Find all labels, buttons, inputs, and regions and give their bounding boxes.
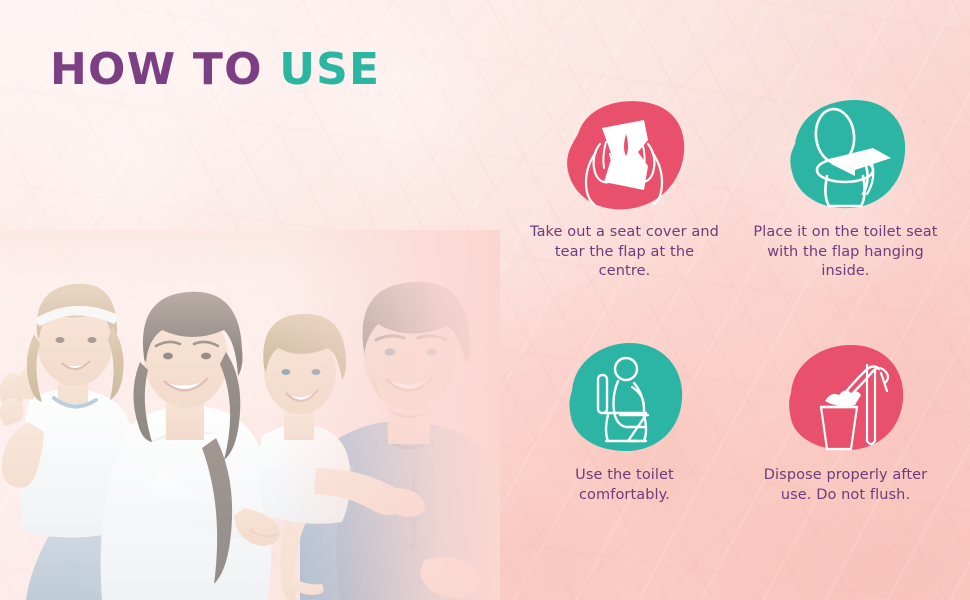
page-title: HOW TO USE bbox=[50, 48, 380, 92]
step-2-icon-blob bbox=[781, 96, 911, 214]
step-3-icon-blob bbox=[560, 339, 690, 457]
page-title-part1: HOW TO bbox=[50, 44, 263, 95]
family-photo-artwork bbox=[0, 230, 500, 600]
photo-mother bbox=[101, 292, 280, 600]
steps-grid: Take out a seat cover and tear the flap … bbox=[520, 96, 950, 556]
step-4-icon-blob bbox=[781, 339, 911, 457]
step-2-text: Place it on the toilet seat with the fla… bbox=[751, 223, 941, 282]
step-1-text: Take out a seat cover and tear the flap … bbox=[530, 223, 720, 282]
step-1: Take out a seat cover and tear the flap … bbox=[520, 96, 729, 313]
step-4-text: Dispose properly after use. Do not flush… bbox=[751, 466, 941, 505]
step-3-text: Use the toilet comfortably. bbox=[530, 466, 720, 505]
hand-disposing-in-bin-icon bbox=[781, 339, 911, 457]
page-title-part2: USE bbox=[279, 44, 380, 95]
hands-tearing-seat-cover-icon bbox=[560, 96, 690, 214]
how-to-use-banner: HOW TO USE bbox=[0, 0, 970, 600]
toilet-with-seat-cover-icon bbox=[781, 96, 911, 214]
step-1-icon-blob bbox=[560, 96, 690, 214]
person-sitting-on-toilet-icon bbox=[560, 339, 690, 457]
step-3: Use the toilet comfortably. bbox=[520, 339, 729, 556]
family-photo bbox=[0, 230, 500, 600]
step-4: Dispose properly after use. Do not flush… bbox=[741, 339, 950, 556]
step-2: Place it on the toilet seat with the fla… bbox=[741, 96, 950, 313]
